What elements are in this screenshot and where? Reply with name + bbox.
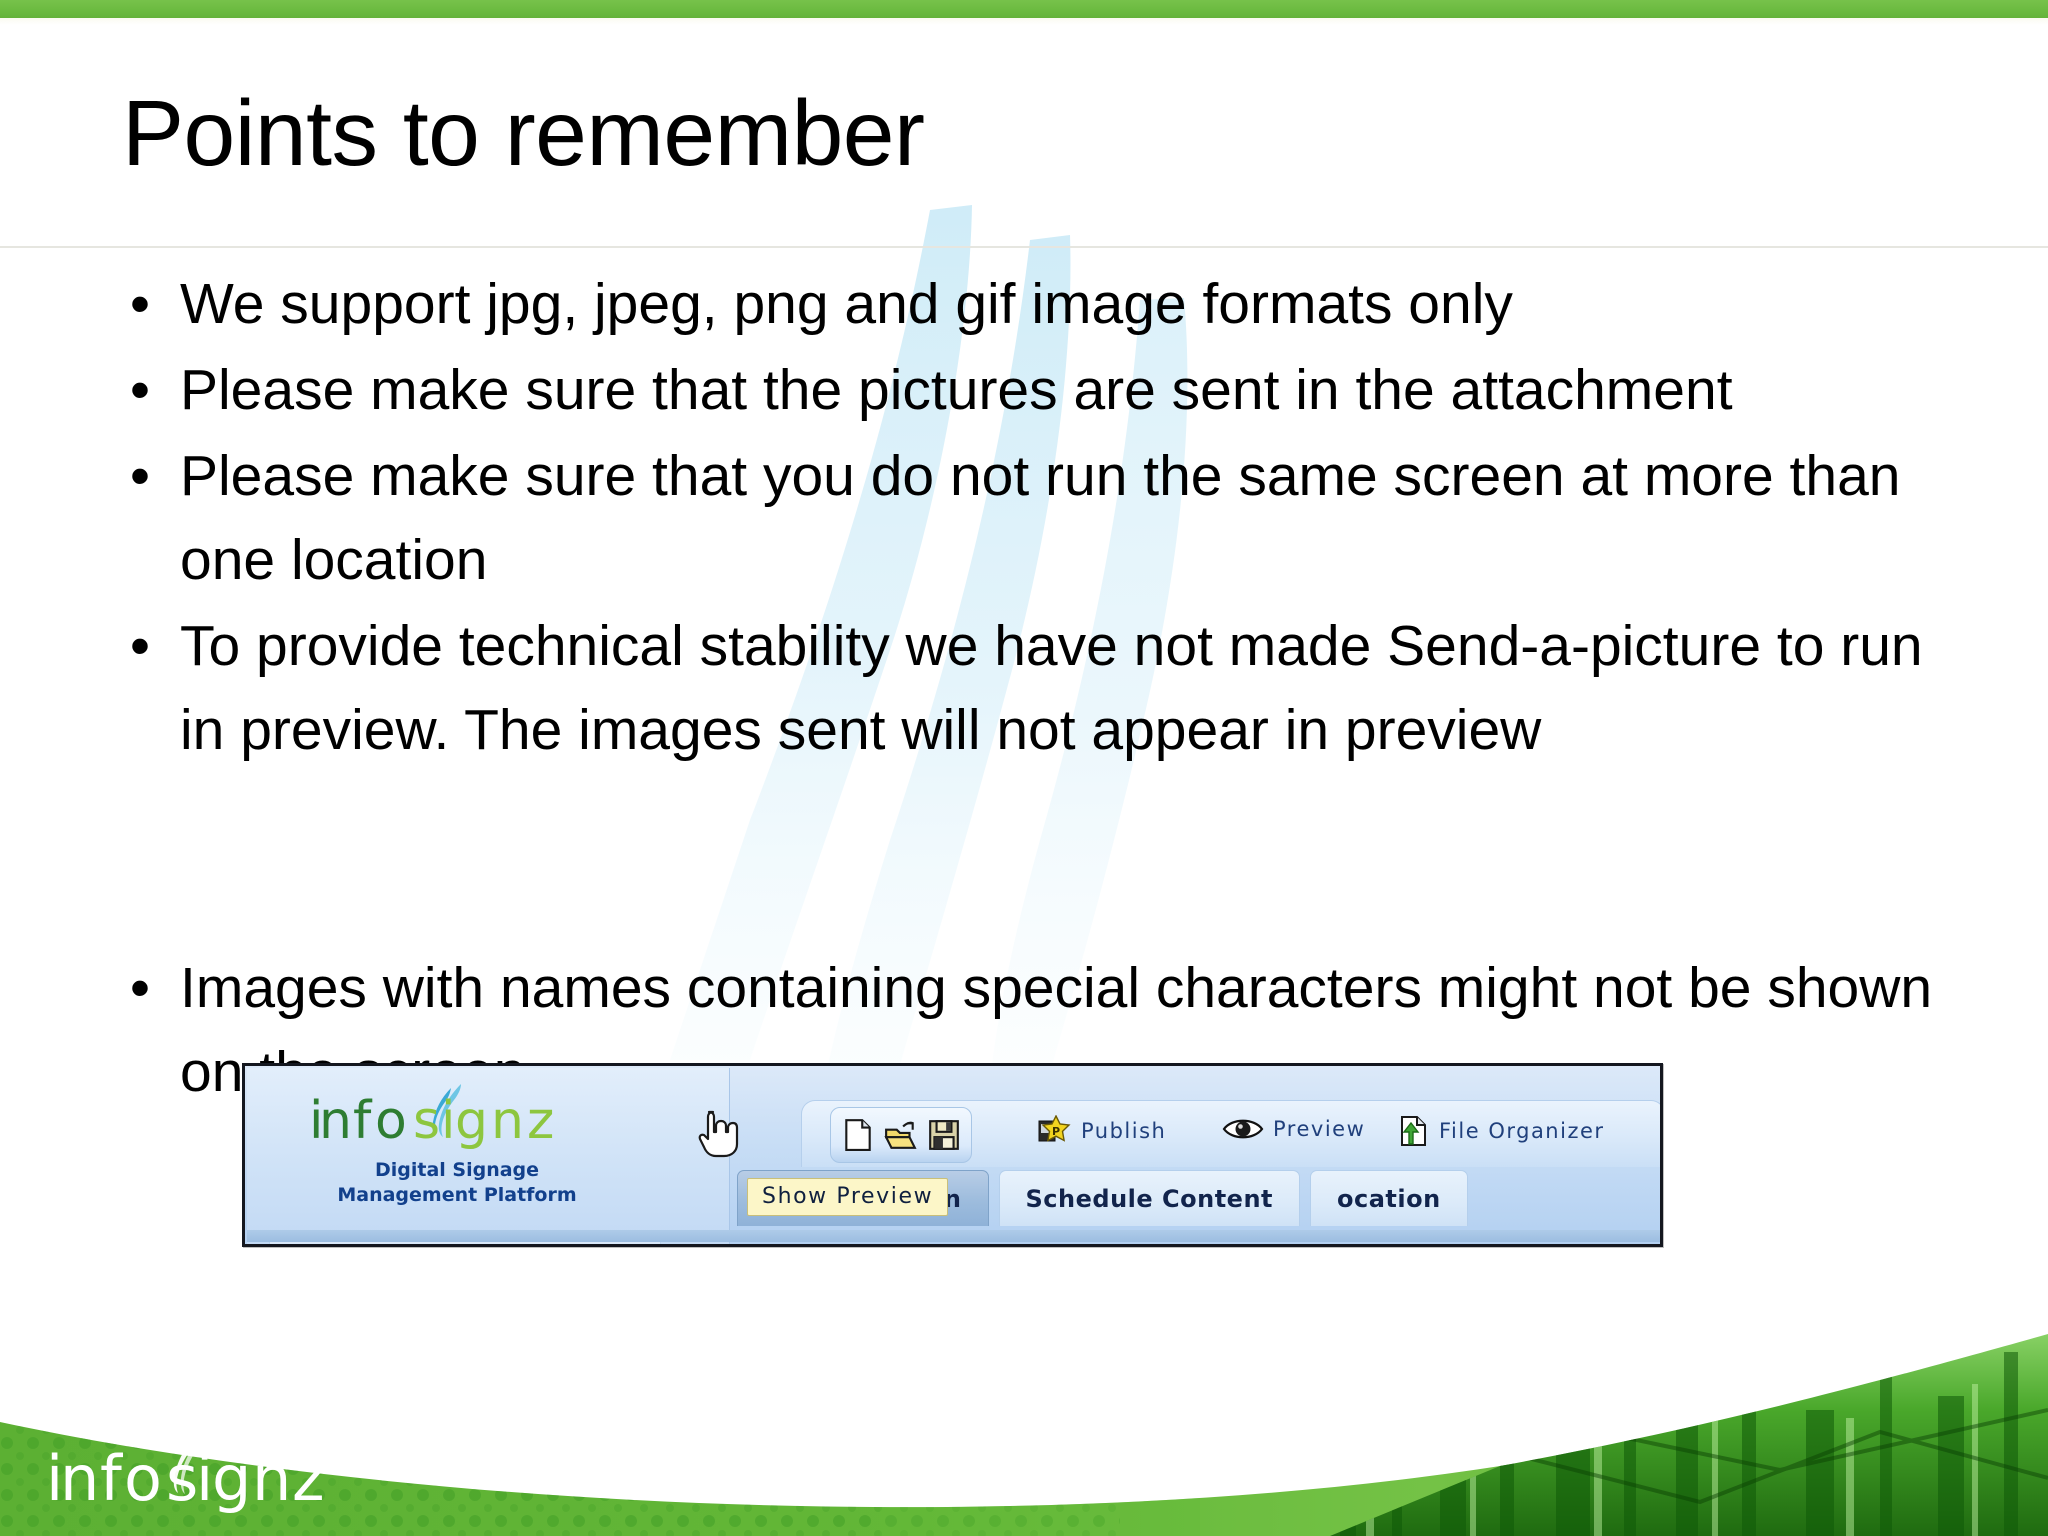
svg-text:n: n [252, 1442, 291, 1514]
list-item: • To provide technical stability we have… [118, 604, 1978, 772]
bullet-marker-icon: • [118, 434, 180, 518]
app-tagline: Digital Signage Management Platform [287, 1158, 627, 1208]
list-item: • Please make sure that the pictures are… [118, 348, 1978, 432]
preview-action[interactable]: Preview [1222, 1115, 1365, 1143]
svg-text:P: P [1052, 1125, 1060, 1138]
file-toolbar-group [830, 1107, 972, 1163]
app-tagline-line-2: Management Platform [287, 1183, 627, 1208]
page-title: Points to remember [122, 87, 924, 180]
svg-text:i: i [441, 1091, 454, 1151]
title-area: Points to remember [0, 25, 2048, 247]
top-accent-bar [0, 0, 2048, 18]
svg-text:g: g [212, 1442, 251, 1514]
publish-label: Publish [1081, 1119, 1166, 1143]
bullet-marker-icon: • [118, 946, 180, 1030]
svg-text:n: n [60, 1442, 99, 1514]
footer-infosignz-logo-icon: i n f o s i g n z [44, 1430, 344, 1514]
svg-text:z: z [292, 1442, 325, 1514]
new-document-icon[interactable] [841, 1118, 875, 1152]
preview-eye-icon[interactable] [1222, 1115, 1264, 1143]
app-toolbar: P Publish Preview File Organizer [801, 1100, 1663, 1167]
bullet-list: • We support jpg, jpeg, png and gif imag… [118, 262, 1978, 1116]
tooltip-show-preview: Show Preview [747, 1178, 948, 1216]
open-folder-icon[interactable] [884, 1118, 918, 1152]
preview-label: Preview [1273, 1117, 1365, 1141]
svg-text:g: g [455, 1091, 487, 1151]
title-divider-rule [0, 246, 2048, 248]
footer-band: i n f o s i g n z [0, 1306, 2048, 1536]
top-bar-shadow [0, 18, 2048, 25]
app-brand-panel: i n f o s i g n z Digital Signage Manage… [247, 1068, 730, 1246]
svg-text:n: n [491, 1091, 523, 1151]
infosignz-logo-icon: i n f o s i g n z [305, 1082, 605, 1154]
list-item: • Please make sure that you do not run t… [118, 434, 1978, 602]
file-organizer-action[interactable]: File Organizer [1398, 1115, 1605, 1147]
bullet-marker-icon: • [118, 604, 180, 688]
bullet-text: We support jpg, jpeg, png and gif image … [180, 262, 1978, 346]
bullet-marker-icon: • [118, 348, 180, 432]
file-organizer-icon[interactable] [1398, 1115, 1430, 1147]
list-item: • We support jpg, jpeg, png and gif imag… [118, 262, 1978, 346]
publish-action[interactable]: P Publish [1038, 1115, 1166, 1147]
svg-text:s: s [413, 1091, 439, 1151]
svg-text:s: s [166, 1442, 198, 1514]
app-status-strip [247, 1230, 1660, 1242]
hand-pointer-cursor [697, 1108, 741, 1162]
tab-schedule-content[interactable]: Schedule Content [999, 1170, 1301, 1226]
bullet-text: To provide technical stability we have n… [180, 604, 1940, 772]
svg-text:f: f [353, 1091, 373, 1151]
bullet-text: Please make sure that you do not run the… [180, 434, 1978, 602]
bullet-marker-icon: • [118, 262, 180, 346]
embedded-image-spacer [118, 774, 1978, 946]
app-tagline-line-1: Digital Signage [287, 1158, 627, 1183]
svg-text:o: o [124, 1442, 162, 1514]
publish-star-icon[interactable]: P [1038, 1115, 1072, 1147]
svg-text:i: i [196, 1442, 213, 1514]
svg-text:f: f [100, 1442, 124, 1514]
svg-text:z: z [527, 1091, 553, 1151]
bullet-text: Please make sure that the pictures are s… [180, 348, 1978, 432]
save-floppy-icon[interactable] [927, 1118, 961, 1152]
embedded-toolbar-screenshot: i n f o s i g n z Digital Signage Manage… [242, 1063, 1663, 1247]
file-organizer-label: File Organizer [1439, 1119, 1605, 1143]
svg-text:o: o [375, 1091, 406, 1151]
svg-text:n: n [319, 1091, 351, 1151]
tab-manage-location[interactable]: ocation [1310, 1170, 1468, 1226]
slide-canvas: Points to remember • We support jpg, jpe… [0, 0, 2048, 1536]
